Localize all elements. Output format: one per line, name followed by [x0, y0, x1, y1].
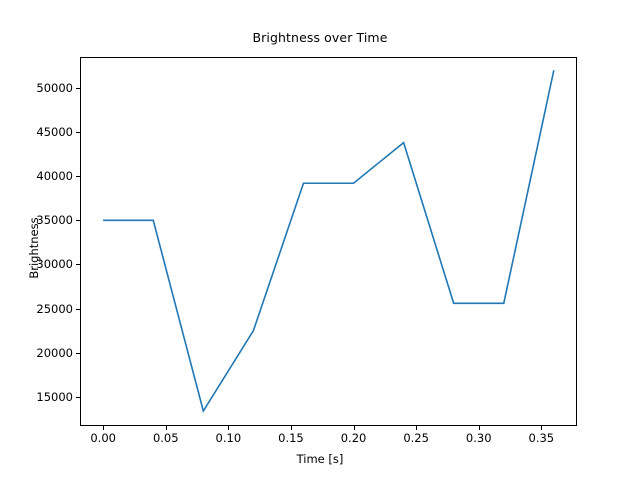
x-tick-mark	[541, 426, 542, 430]
y-axis-label: Brightness	[27, 188, 41, 308]
x-tick-mark	[416, 426, 417, 430]
matplotlib-figure: Brightness over Time 1500020000250003000…	[0, 0, 640, 480]
x-tick-label: 0.00	[90, 431, 116, 445]
y-tick-label: 50000	[36, 81, 73, 95]
x-tick-mark	[479, 426, 480, 430]
x-tick-label: 0.25	[403, 431, 429, 445]
x-axis-label: Time [s]	[0, 452, 640, 466]
line-chart-plot	[80, 57, 577, 426]
y-tick-label: 45000	[36, 125, 73, 139]
y-tick-label: 25000	[36, 302, 73, 316]
y-tick-label: 40000	[36, 169, 73, 183]
y-tick-label: 15000	[36, 390, 73, 404]
y-tick-label: 35000	[36, 213, 73, 227]
x-tick-mark	[354, 426, 355, 430]
y-tick-label: 30000	[36, 257, 73, 271]
x-tick-label: 0.35	[529, 431, 555, 445]
x-tick-label: 0.05	[153, 431, 179, 445]
x-tick-mark	[166, 426, 167, 430]
brightness-series-line	[103, 70, 554, 411]
x-tick-mark	[228, 426, 229, 430]
y-tick-label: 20000	[36, 346, 73, 360]
x-tick-label: 0.10	[216, 431, 242, 445]
x-tick-mark	[103, 426, 104, 430]
x-tick-label: 0.20	[341, 431, 367, 445]
x-tick-label: 0.15	[278, 431, 304, 445]
page-title: Brightness over Time	[0, 30, 640, 45]
x-tick-mark	[291, 426, 292, 430]
x-tick-label: 0.30	[466, 431, 492, 445]
